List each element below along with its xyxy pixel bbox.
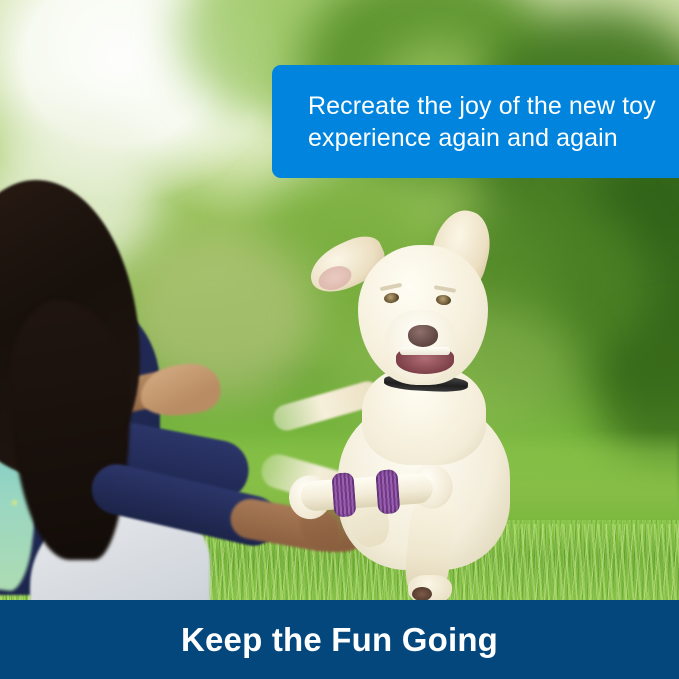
dog-paw-pad bbox=[412, 587, 432, 600]
toy-purple-ring bbox=[375, 469, 400, 514]
dog-teeth bbox=[400, 347, 450, 355]
callout-text: Recreate the joy of the new toy experien… bbox=[272, 90, 679, 154]
banner-headline: Keep the Fun Going bbox=[181, 621, 498, 659]
person bbox=[0, 180, 300, 600]
dog-nose bbox=[408, 325, 438, 347]
callout-box: Recreate the joy of the new toy experien… bbox=[272, 65, 679, 178]
product-lifestyle-image: Recreate the joy of the new toy experien… bbox=[0, 0, 679, 679]
chew-toy bbox=[282, 449, 457, 541]
toy-purple-ring bbox=[331, 472, 356, 517]
bottom-banner: Keep the Fun Going bbox=[0, 600, 679, 679]
